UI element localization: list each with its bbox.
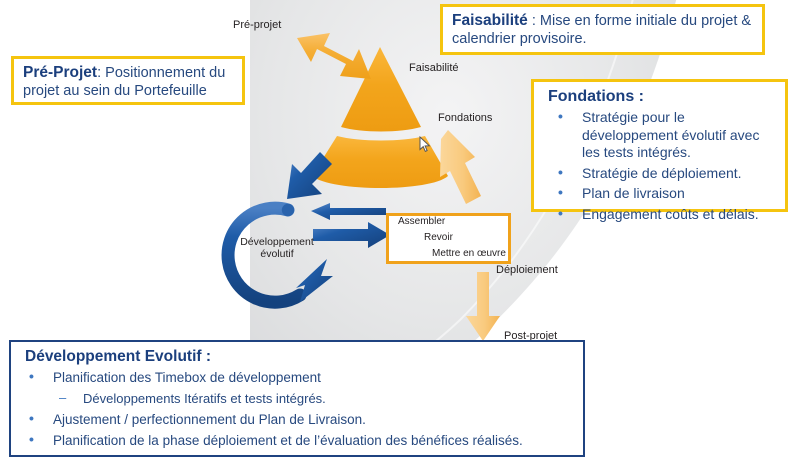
diagram-canvas: Pré-projet Faisabilité Fondations Dévelo… (0, 0, 795, 462)
list-item-text: Engagement coûts et délais. (582, 206, 759, 222)
label-faisabilite: Faisabilité (409, 62, 459, 75)
callout-developpement-evolutif-items: •Planification des Timebox de développem… (17, 369, 577, 449)
list-item: •Stratégie pour le développement évoluti… (542, 109, 779, 162)
list-item-text: Stratégie pour le développement évolutif… (582, 109, 759, 160)
label-deploiement: Déploiement (496, 264, 558, 277)
callout-pre-projet-heading: Pré-Projet (23, 64, 97, 81)
callout-pre-projet-text: Pré-Projet: Positionnement du projet au … (14, 59, 242, 104)
list-item-text: Développements Itératifs et tests intégr… (83, 391, 326, 406)
list-item: •Planification de la phase déploiement e… (17, 432, 577, 449)
bullet-icon: • (29, 410, 34, 427)
label-developpement-evolutif-line2: évolutif (222, 248, 332, 260)
label-pre-projet: Pré-projet (233, 19, 281, 32)
bullet-icon: • (29, 368, 34, 385)
list-item-text: Plan de livraison (582, 185, 685, 201)
callout-faisabilite-heading: Faisabilité (452, 12, 528, 29)
bullet-icon: • (558, 164, 563, 182)
mouse-cursor-icon (419, 136, 431, 153)
stage-row-revoir: Revoir (424, 232, 453, 243)
bullet-icon: • (558, 184, 563, 202)
callout-faisabilite: Faisabilité : Mise en forme initiale du … (440, 4, 765, 55)
list-item-text: Stratégie de déploiement. (582, 165, 742, 181)
list-item: •Engagement coûts et délais. (542, 206, 779, 224)
callout-faisabilite-text: Faisabilité : Mise en forme initiale du … (443, 7, 762, 52)
list-item-sub: –Développements Itératifs et tests intég… (17, 390, 577, 407)
label-developpement-evolutif: Développement évolutif (222, 236, 332, 260)
callout-fondations: Fondations : •Stratégie pour le développ… (531, 79, 788, 212)
stage-row-assembler: Assembler (398, 216, 445, 227)
list-item-text: Planification des Timebox de développeme… (53, 370, 321, 385)
callout-developpement-evolutif-heading: Développement Evolutif : (25, 348, 577, 366)
list-item: •Ajustement / perfectionnement du Plan d… (17, 411, 577, 428)
dash-icon: – (59, 389, 66, 406)
callout-pre-projet: Pré-Projet: Positionnement du projet au … (11, 56, 245, 105)
list-item: •Stratégie de déploiement. (542, 165, 779, 183)
list-item: •Planification des Timebox de développem… (17, 369, 577, 386)
label-developpement-evolutif-line1: Développement (222, 236, 332, 248)
callout-fondations-heading: Fondations : (548, 88, 779, 106)
list-item-text: Planification de la phase déploiement et… (53, 433, 523, 448)
callout-fondations-bullets: •Stratégie pour le développement évoluti… (542, 109, 779, 223)
list-item-text: Ajustement / perfectionnement du Plan de… (53, 412, 366, 427)
stage-row-mettre-en-oeuvre: Mettre en œuvre (432, 248, 506, 259)
label-fondations: Fondations (438, 112, 492, 125)
bullet-icon: • (29, 431, 34, 448)
callout-developpement-evolutif: Développement Evolutif : •Planification … (9, 340, 585, 457)
bullet-icon: • (558, 205, 563, 223)
list-item: •Plan de livraison (542, 185, 779, 203)
bullet-icon: • (558, 108, 563, 126)
